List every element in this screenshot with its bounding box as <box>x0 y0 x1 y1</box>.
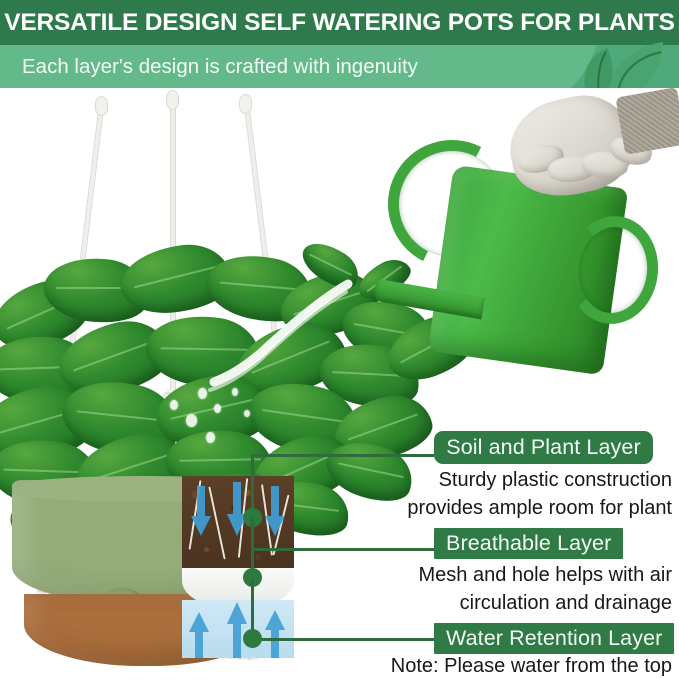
water-down-arrow <box>264 486 286 538</box>
page-subtitle: Each layer's design is crafted with inge… <box>0 45 560 88</box>
water-up-arrow <box>188 612 210 658</box>
cutaway-cross-section <box>182 476 294 658</box>
desc-breathable-line-1: Mesh and hole helps with air <box>379 561 672 589</box>
water-up-arrow <box>264 610 286 658</box>
infographic-root: VERSATILE DESIGN SELF WATERING POTS FOR … <box>0 0 679 679</box>
badge-soil-and-plant-layer[interactable]: Soil and Plant Layer <box>434 431 653 464</box>
connector-line-water <box>251 638 434 641</box>
glove-cuff <box>615 88 679 155</box>
connector-line-soil-h <box>251 454 434 457</box>
note-text: Note: Please water from the top <box>359 655 672 678</box>
badge-water-retention-layer[interactable]: Water Retention Layer <box>434 623 674 654</box>
hanger-knot <box>95 96 108 116</box>
desc-breathable-line-2: circulation and drainage <box>379 589 672 617</box>
connector-dot-water <box>243 629 262 648</box>
hanger-knot <box>166 90 179 110</box>
hanger-knot <box>239 94 252 114</box>
badge-breathable-layer[interactable]: Breathable Layer <box>434 528 623 559</box>
water-up-arrow <box>226 602 248 658</box>
desc-soil-line-2: provides ample room for plant <box>379 494 672 522</box>
water-down-arrow <box>190 486 212 538</box>
desc-soil-line-1: Sturdy plastic construction <box>379 466 672 494</box>
connector-line-mesh <box>251 548 434 551</box>
